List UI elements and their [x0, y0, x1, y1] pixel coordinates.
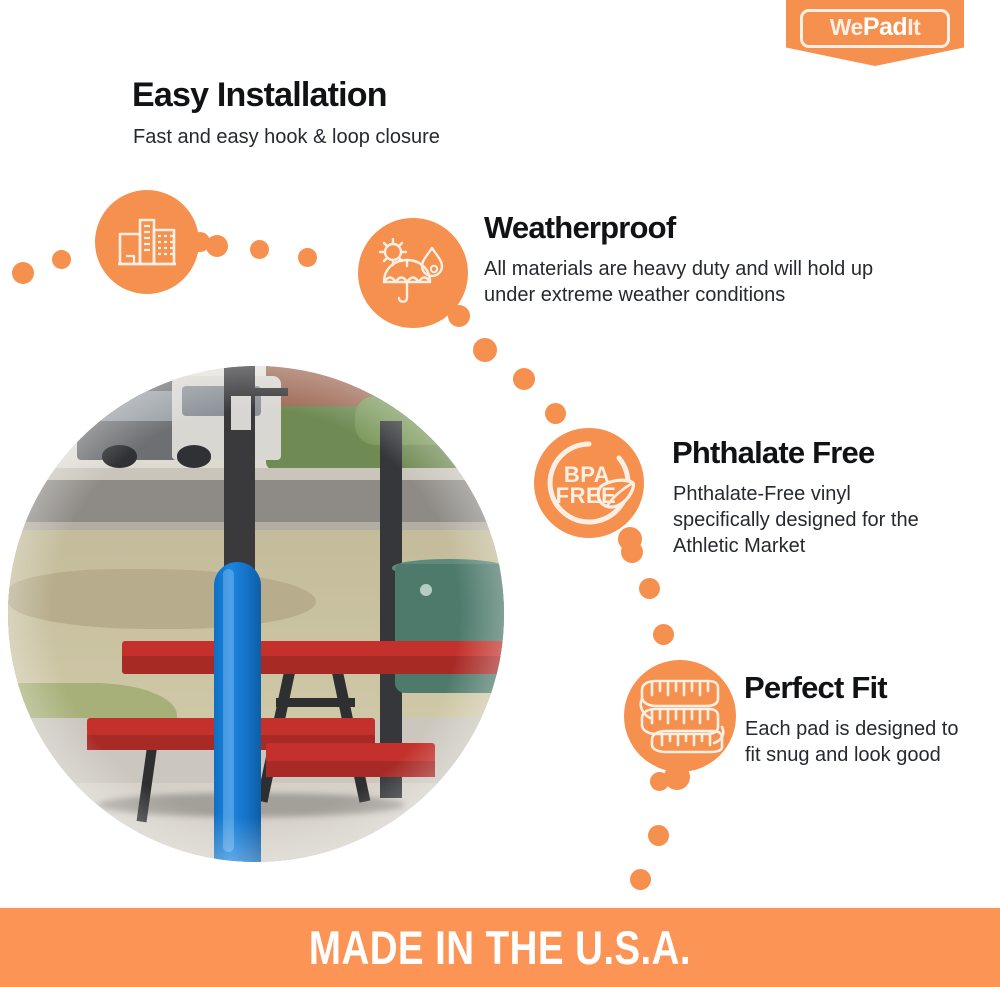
feature-description-phthalate-free: Phthalate-Free vinyl specifically design…: [673, 481, 943, 559]
path-dot: [473, 338, 497, 362]
infographic-page: WePadIt Easy Installation Fast and easy …: [0, 0, 1000, 987]
photo-blue-post-pad: [214, 562, 261, 862]
path-dot: [52, 250, 71, 269]
photo-blue-post-pad-highlight: [223, 569, 234, 852]
logo-outline-box: WePadIt: [800, 9, 950, 48]
logo-text-we: We: [830, 14, 863, 40]
svg-text:FREE: FREE: [556, 483, 617, 508]
photo-dirt-patch: [8, 569, 316, 629]
path-dot: [250, 240, 269, 259]
umbrella-sun-rain-icon: [376, 238, 450, 308]
feature-title-phthalate-free: Phthalate Free: [672, 437, 874, 470]
path-dot: [630, 869, 651, 890]
product-photo: [8, 366, 504, 862]
path-dot: [639, 578, 660, 599]
icon-bump-easy-installation: [190, 232, 210, 252]
feature-description-easy-installation: Fast and easy hook & loop closure: [133, 124, 553, 150]
feature-title-perfect-fit: Perfect Fit: [744, 672, 887, 705]
logo-text: WePadIt: [830, 15, 921, 40]
logo-text-it: It: [907, 14, 920, 40]
photo-picnic-tabletop-edge: [122, 656, 504, 674]
photo-bench-front-edge: [266, 761, 435, 777]
bpa-free-leaf-icon: BPA FREE: [541, 435, 637, 531]
icon-bump-weatherproof: [448, 305, 470, 327]
icon-bump-perfect-fit: [664, 764, 690, 790]
measuring-tape-icon: [634, 674, 726, 758]
path-dot: [653, 624, 674, 645]
photo-pole-fixture: [231, 396, 251, 431]
icon-circle-perfect-fit: [624, 660, 736, 772]
path-dot: [545, 403, 566, 424]
photo-tire: [102, 445, 137, 467]
made-in-usa-text: MADE IN THE U.S.A.: [309, 920, 691, 975]
path-dot: [648, 825, 669, 846]
feature-title-weatherproof: Weatherproof: [484, 212, 675, 245]
path-dot: [513, 368, 535, 390]
icon-bump-phthalate-free: [618, 527, 642, 551]
logo-text-pad: Pad: [863, 13, 907, 41]
building-icon: [116, 216, 178, 268]
photo-road: [8, 480, 504, 525]
photo-tire: [177, 445, 212, 467]
feature-description-weatherproof: All materials are heavy duty and will ho…: [484, 256, 914, 308]
photo-table-brace: [276, 698, 355, 707]
photo-hedge-back: [355, 396, 504, 446]
photo-trash-can: [395, 564, 504, 693]
path-dot: [12, 262, 34, 284]
feature-title-easy-installation: Easy Installation: [132, 78, 387, 114]
icon-circle-phthalate-free: BPA FREE: [534, 428, 644, 538]
path-dot: [298, 248, 317, 267]
photo-trash-can-highlight: [420, 584, 432, 596]
brand-logo: WePadIt: [786, 0, 964, 66]
made-in-usa-banner: MADE IN THE U.S.A.: [0, 908, 1000, 987]
feature-description-perfect-fit: Each pad is designed to fit snug and loo…: [745, 716, 975, 768]
icon-circle-easy-installation: [95, 190, 199, 294]
